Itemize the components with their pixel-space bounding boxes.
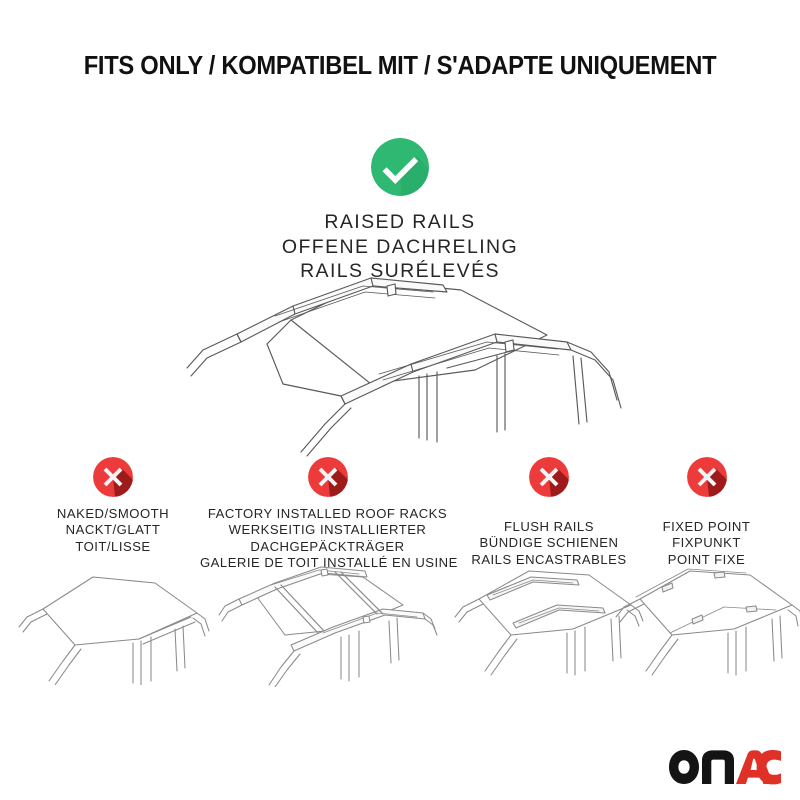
x-circle-icon <box>308 457 348 497</box>
unsupported-option-naked: NAKED/SMOOTH NACKT/GLATT TOIT/LISSE <box>13 457 213 555</box>
x-circle-icon <box>93 457 133 497</box>
fixed-point-label-en: FIXED POINT <box>634 519 779 535</box>
car-roof-with-fixed-points-illustration <box>612 557 800 681</box>
factory-racks-label-en: FACTORY INSTALLED ROOF RACKS <box>200 506 455 522</box>
header: FITS ONLY / KOMPATIBEL MIT / S'ADAPTE UN… <box>0 52 800 81</box>
factory-racks-label-de-2: DACHGEPÄCKTRÄGER <box>200 539 455 555</box>
x-circle-icon <box>687 457 727 497</box>
supported-label-de: OFFENE DACHRELING <box>0 235 800 260</box>
check-circle-icon <box>371 138 429 196</box>
omac-logo <box>668 748 782 786</box>
car-roof-with-raised-rails-illustration <box>175 272 635 462</box>
naked-label-fr: TOIT/LISSE <box>13 539 213 555</box>
fixed-point-label-de: FIXPUNKT <box>634 535 779 551</box>
car-roof-bare-illustration <box>15 565 211 685</box>
x-circle-icon <box>529 457 569 497</box>
unsupported-option-factory-racks: FACTORY INSTALLED ROOF RACKS WERKSEITIG … <box>200 457 455 572</box>
factory-racks-label-de-1: WERKSEITIG INSTALLIERTER <box>200 522 455 538</box>
unsupported-option-flush-rails: FLUSH RAILS BÜNDIGE SCHIENEN RAILS ENCAS… <box>450 457 648 568</box>
supported-option: RAISED RAILS OFFENE DACHRELING RAILS SUR… <box>0 138 800 284</box>
naked-label-en: NAKED/SMOOTH <box>13 506 213 522</box>
page-title: FITS ONLY / KOMPATIBEL MIT / S'ADAPTE UN… <box>28 52 772 81</box>
naked-label-de: NACKT/GLATT <box>13 522 213 538</box>
flush-rails-label-en: FLUSH RAILS <box>450 519 648 535</box>
unsupported-option-fixed-point: FIXED POINT FIXPUNKT POINT FIXE <box>634 457 779 568</box>
supported-label-en: RAISED RAILS <box>0 210 800 235</box>
naked-labels: NAKED/SMOOTH NACKT/GLATT TOIT/LISSE <box>13 506 213 555</box>
car-roof-with-factory-crossbars-illustration <box>217 561 439 687</box>
flush-rails-label-de: BÜNDIGE SCHIENEN <box>450 535 648 551</box>
